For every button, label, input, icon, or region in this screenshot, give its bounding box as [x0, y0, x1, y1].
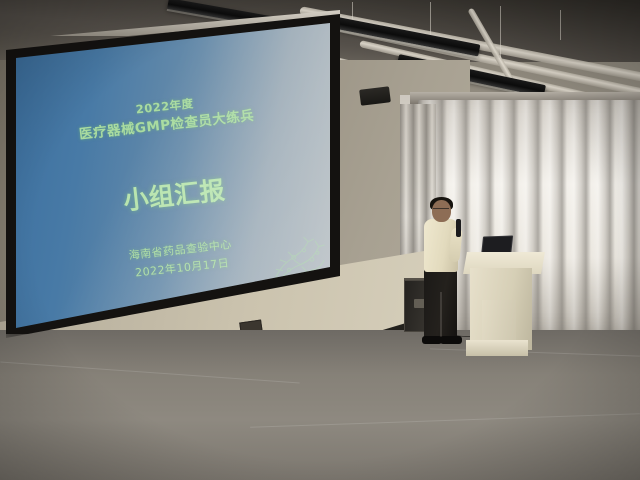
floor-reflection [0, 330, 640, 480]
light-suspension-wire [500, 6, 501, 58]
lectern-base [466, 340, 528, 356]
presentation-room-photo: 2022年度 医疗器械GMP检查员大练兵 小组汇报 海南省药品查验中心 2022… [0, 0, 640, 480]
handheld-microphone[interactable] [456, 219, 461, 237]
light-suspension-wire [560, 10, 561, 40]
presenter-shoe [422, 336, 442, 344]
slide-main-title: 小组汇报 [3, 158, 342, 231]
glasses-icon [433, 208, 449, 213]
presenter-shoe [440, 336, 462, 344]
trouser-seam [440, 292, 442, 340]
